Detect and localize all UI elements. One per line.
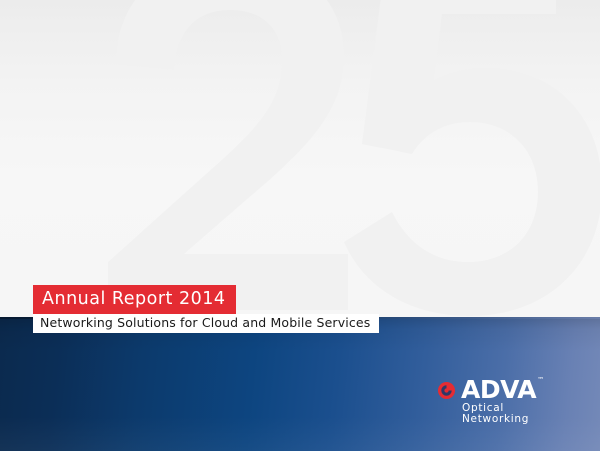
report-subtitle-banner: Networking Solutions for Cloud and Mobil… (33, 314, 379, 333)
logo-wordmark-row: ADVA ™ (437, 376, 569, 401)
logo-wordmark: ADVA (461, 378, 536, 401)
cover-background (0, 0, 600, 318)
adva-swirl-icon (437, 381, 456, 400)
trademark-icon: ™ (537, 377, 544, 384)
page-title: Annual Report 2014 (42, 291, 226, 309)
page-subtitle: Networking Solutions for Cloud and Mobil… (40, 317, 370, 330)
report-title-banner: Annual Report 2014 (33, 285, 236, 314)
annual-report-cover: Annual Report 2014 Networking Solutions … (0, 0, 600, 451)
watermark-25 (86, 0, 600, 318)
logo-tagline: Optical Networking (462, 403, 569, 424)
adva-logo: ADVA ™ Optical Networking (437, 376, 569, 416)
